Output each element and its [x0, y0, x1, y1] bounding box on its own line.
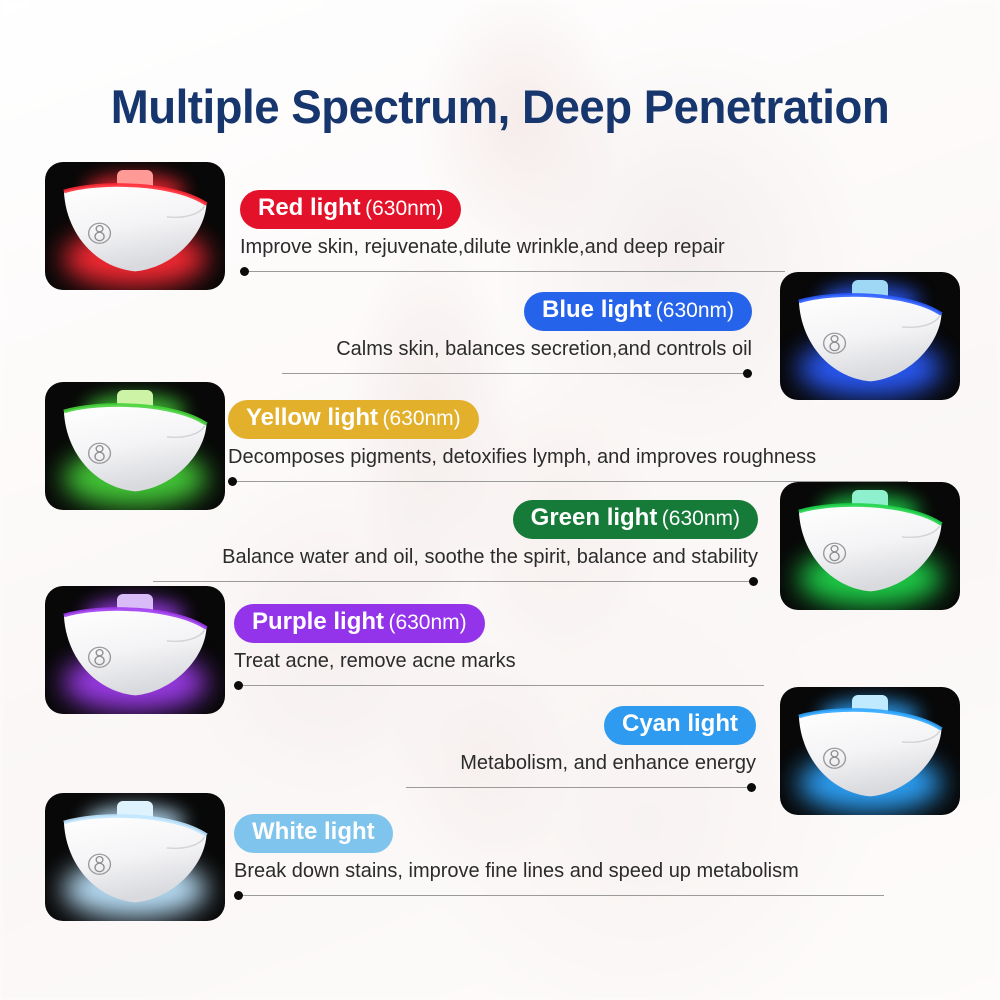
connector-line-yellow	[228, 481, 908, 482]
product-thumbnail-green	[780, 482, 960, 610]
light-mode-badge-yellow[interactable]: Yellow light (630nm)	[228, 400, 479, 439]
led-neck-mask-purple	[45, 586, 225, 714]
connector-line-blue	[282, 373, 752, 374]
connector-line-white	[234, 895, 884, 896]
light-mode-badge-cyan[interactable]: Cyan light	[604, 706, 756, 745]
light-mode-badge-red[interactable]: Red light (630nm)	[240, 190, 461, 229]
connector-dot-blue	[743, 369, 752, 378]
led-neck-mask-green	[780, 482, 960, 610]
product-thumbnail-red	[45, 162, 225, 290]
connector-line-purple	[234, 685, 764, 686]
pill-wavelength-blue: (630nm)	[656, 299, 734, 322]
led-neck-mask-blue	[780, 272, 960, 400]
pill-label-green: Green light	[531, 504, 658, 531]
pill-wavelength-green: (630nm)	[662, 507, 740, 530]
light-mode-row-blue: Blue light (630nm)Calms skin, balances s…	[282, 292, 752, 374]
light-mode-description-purple: Treat acne, remove acne marks	[234, 650, 764, 673]
light-mode-badge-purple[interactable]: Purple light (630nm)	[234, 604, 485, 643]
connector-dot-white	[234, 891, 243, 900]
pill-label-purple: Purple light	[252, 608, 384, 635]
light-mode-badge-green[interactable]: Green light (630nm)	[513, 500, 758, 539]
product-thumbnail-yellow	[45, 382, 225, 510]
pill-label-yellow: Yellow light	[246, 404, 378, 431]
product-thumbnail-cyan	[780, 687, 960, 815]
page-title: Multiple Spectrum, Deep Penetration	[15, 83, 985, 130]
product-thumbnail-white	[45, 793, 225, 921]
light-mode-row-purple: Purple light (630nm)Treat acne, remove a…	[234, 604, 764, 686]
pill-label-blue: Blue light	[542, 296, 651, 323]
pill-label-cyan: Cyan light	[622, 710, 738, 737]
connector-line-red	[240, 271, 785, 272]
light-mode-row-cyan: Cyan lightMetabolism, and enhance energy	[406, 706, 756, 788]
pill-wavelength-yellow: (630nm)	[382, 407, 460, 430]
product-thumbnail-blue	[780, 272, 960, 400]
light-mode-description-white: Break down stains, improve fine lines an…	[234, 860, 884, 883]
pill-label-white: White light	[252, 818, 375, 845]
light-mode-description-green: Balance water and oil, soothe the spirit…	[153, 546, 758, 569]
pill-wavelength-purple: (630nm)	[388, 611, 466, 634]
connector-line-cyan	[406, 787, 756, 788]
light-mode-row-red: Red light (630nm)Improve skin, rejuvenat…	[240, 190, 785, 272]
light-mode-row-yellow: Yellow light (630nm)Decomposes pigments,…	[228, 400, 908, 482]
led-neck-mask-red	[45, 162, 225, 290]
pill-wavelength-red: (630nm)	[365, 197, 443, 220]
light-mode-description-blue: Calms skin, balances secretion,and contr…	[282, 338, 752, 361]
connector-dot-purple	[234, 681, 243, 690]
connector-dot-yellow	[228, 477, 237, 486]
product-thumbnail-purple	[45, 586, 225, 714]
connector-dot-green	[749, 577, 758, 586]
light-mode-description-red: Improve skin, rejuvenate,dilute wrinkle,…	[240, 236, 785, 259]
led-neck-mask-white	[45, 793, 225, 921]
light-mode-badge-blue[interactable]: Blue light (630nm)	[524, 292, 752, 331]
connector-line-green	[153, 581, 758, 582]
light-mode-description-cyan: Metabolism, and enhance energy	[406, 752, 756, 775]
light-mode-row-green: Green light (630nm)Balance water and oil…	[153, 500, 758, 582]
connector-dot-cyan	[747, 783, 756, 792]
light-mode-row-white: White lightBreak down stains, improve fi…	[234, 814, 884, 896]
led-neck-mask-cyan	[780, 687, 960, 815]
light-mode-description-yellow: Decomposes pigments, detoxifies lymph, a…	[228, 446, 908, 469]
pill-label-red: Red light	[258, 194, 361, 221]
connector-dot-red	[240, 267, 249, 276]
led-neck-mask-yellow	[45, 382, 225, 510]
light-mode-badge-white[interactable]: White light	[234, 814, 393, 853]
